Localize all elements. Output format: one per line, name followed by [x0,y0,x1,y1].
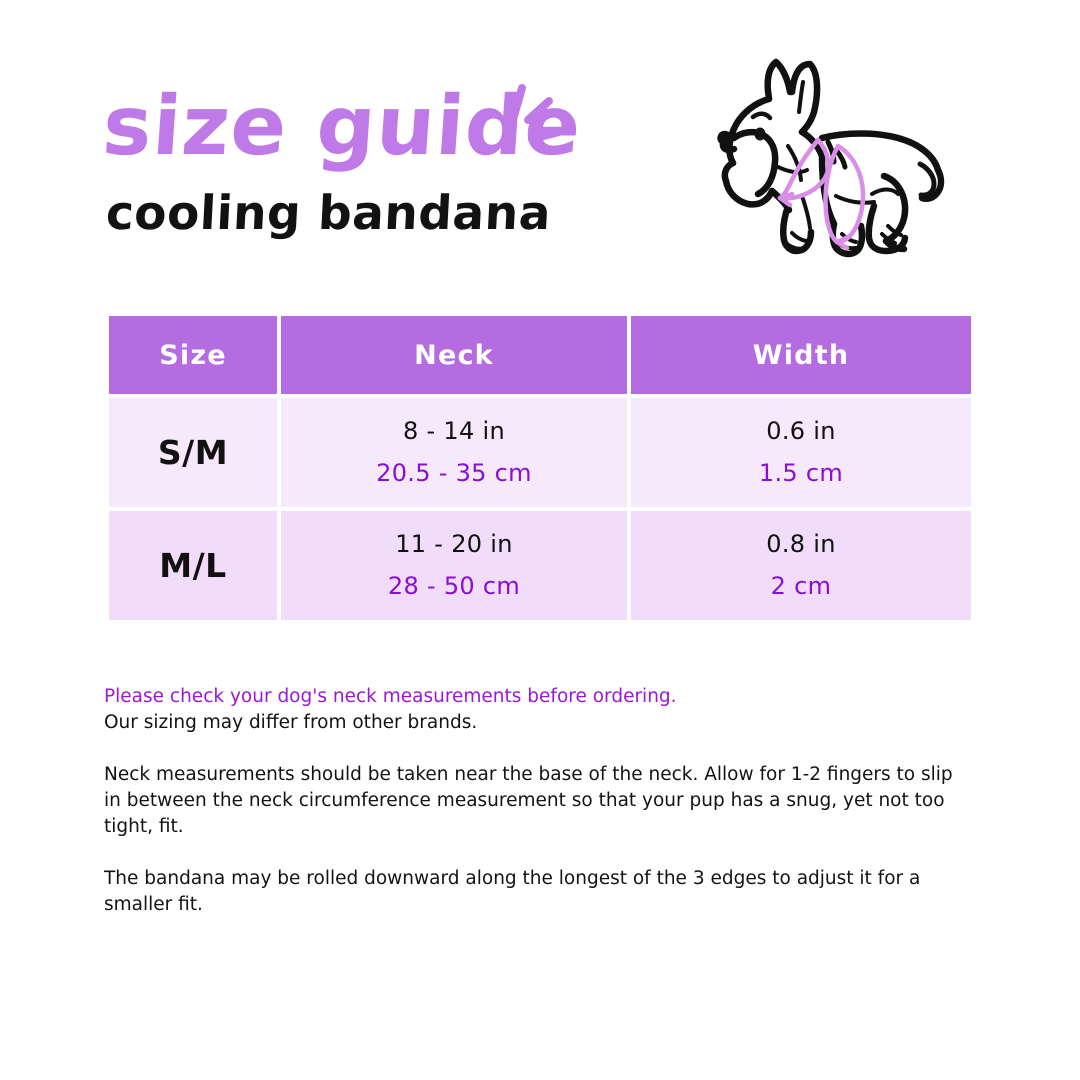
notes-section: Please check your dog's neck measurement… [104,684,972,918]
size-guide-table: Size Neck Width S/M 8 - 14 in 20.5 - 35 … [105,312,975,624]
cell-size-value: M/L [109,511,277,620]
width-centimeters: 1.5 cm [631,461,971,486]
neck-inches: 11 - 20 in [281,532,627,557]
neck-centimeters: 28 - 50 cm [281,574,627,599]
header-section: size guide cooling bandana [0,0,1080,290]
table-row: M/L 11 - 20 in 28 - 50 cm 0.8 in 2 cm [109,511,971,620]
column-header-neck: Neck [281,316,627,394]
note-paragraph-2: The bandana may be rolled downward along… [104,866,972,918]
table-header-row: Size Neck Width [109,316,971,394]
column-header-size: Size [109,316,277,394]
note-accent-line: Please check your dog's neck measurement… [104,684,972,710]
french-bulldog-illustration [706,46,962,276]
sparkle-icon [492,76,562,156]
width-inches: 0.8 in [631,532,971,557]
note-paragraph-1: Neck measurements should be taken near t… [104,762,972,840]
cell-width-value: 0.8 in 2 cm [631,511,971,620]
page-subtitle: cooling bandana [105,190,583,237]
note-spacer [104,840,972,866]
cell-width-value: 0.6 in 1.5 cm [631,398,971,507]
width-inches: 0.6 in [631,419,971,444]
cell-neck-value: 8 - 14 in 20.5 - 35 cm [281,398,627,507]
table-row: S/M 8 - 14 in 20.5 - 35 cm 0.6 in 1.5 cm [109,398,971,507]
neck-centimeters: 20.5 - 35 cm [281,461,627,486]
neck-inches: 8 - 14 in [281,419,627,444]
width-centimeters: 2 cm [631,574,971,599]
note-line-2: Our sizing may differ from other brands. [104,710,972,736]
cell-size-value: S/M [109,398,277,507]
note-spacer [104,736,972,762]
cell-neck-value: 11 - 20 in 28 - 50 cm [281,511,627,620]
column-header-width: Width [631,316,971,394]
